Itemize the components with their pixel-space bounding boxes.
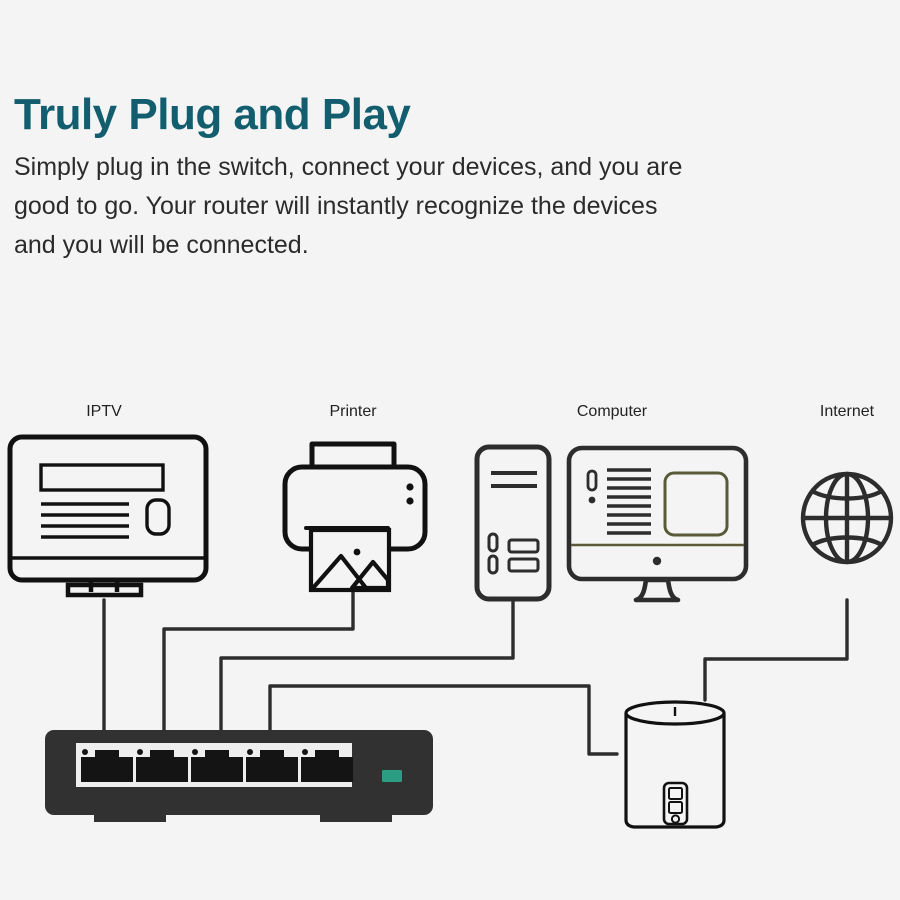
network-topology-diagram: [0, 0, 900, 900]
computer-monitor-icon: [569, 448, 746, 600]
switch-led-1: [82, 749, 88, 755]
printer-icon: [285, 444, 425, 590]
switch-led-5: [302, 749, 308, 755]
promo-panel: Truly Plug and Play Simply plug in the s…: [0, 0, 900, 900]
wireless-router-icon: [626, 702, 724, 827]
router-port-panel: [664, 783, 687, 824]
cable-tower-to-switch: [221, 600, 513, 738]
computer-tower-icon: [477, 447, 549, 599]
cable-group: [104, 592, 847, 754]
switch-status-led: [382, 770, 402, 782]
internet-globe-icon: [803, 474, 891, 562]
switch-led-2: [137, 749, 143, 755]
network-switch-icon: [45, 730, 433, 822]
iptv-tv-icon: [10, 437, 206, 595]
switch-led-3: [192, 749, 198, 755]
cable-internet-to-router: [705, 600, 847, 700]
switch-led-4: [247, 749, 253, 755]
cable-printer-to-switch: [164, 592, 353, 738]
